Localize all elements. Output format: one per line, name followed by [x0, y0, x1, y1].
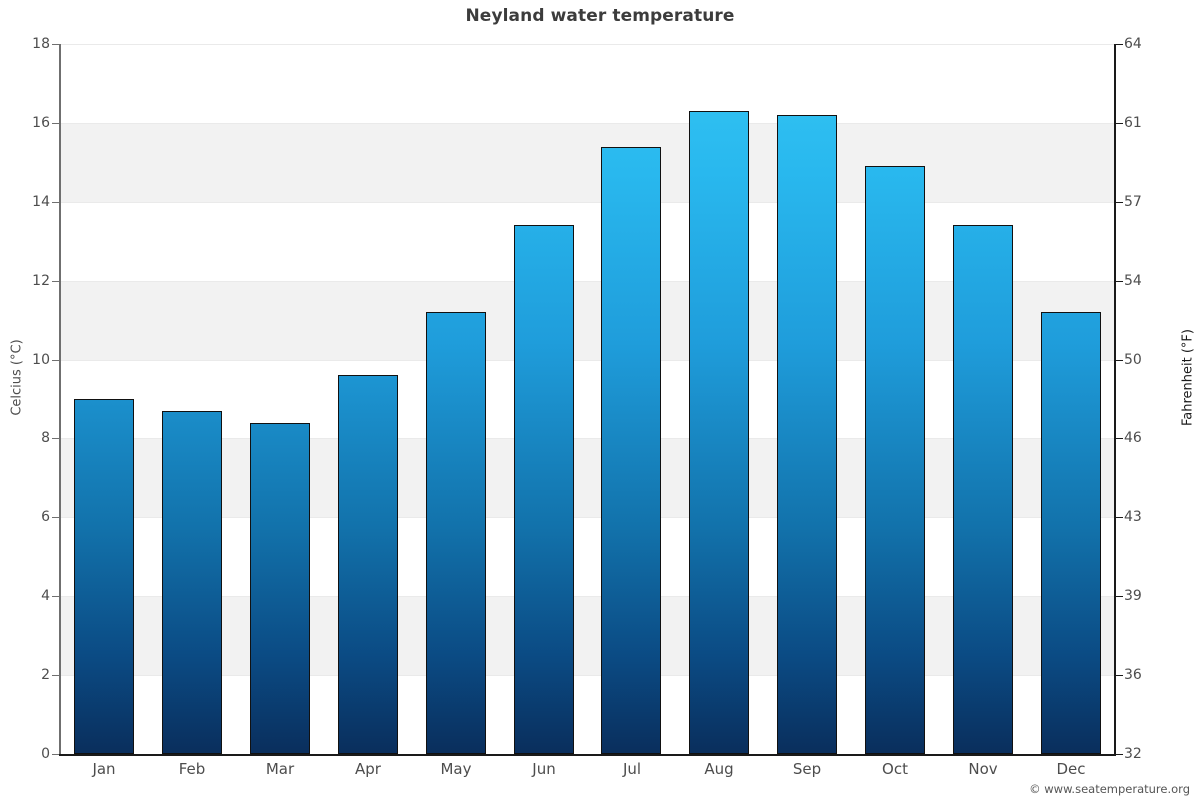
bar[interactable]: [426, 312, 486, 754]
bar[interactable]: [74, 399, 134, 754]
y-axis-left-tick-label: 0: [0, 746, 50, 762]
y-axis-left-tick-label: 6: [0, 509, 50, 525]
y-axis-right-tick-mark: [1116, 754, 1123, 755]
y-axis-right-tick-mark: [1116, 438, 1123, 439]
y-axis-right-tick-mark: [1116, 360, 1123, 361]
gridline: [60, 202, 1115, 203]
y-axis-right-tick-mark: [1116, 44, 1123, 45]
y-axis-left-tick-mark: [52, 517, 59, 518]
x-axis-tick-label: Jun: [500, 760, 588, 778]
y-axis-left-tick-mark: [52, 360, 59, 361]
y-axis-right-tick-label: 61: [1124, 115, 1164, 131]
y-axis-left-tick-mark: [52, 438, 59, 439]
y-axis-left-tick-label: 10: [0, 352, 50, 368]
x-axis-tick-label: Oct: [851, 760, 939, 778]
x-axis-tick-label: May: [412, 760, 500, 778]
x-axis-tick-label: Dec: [1027, 760, 1115, 778]
x-axis-tick-label: Jul: [588, 760, 676, 778]
y-axis-right-tick-label: 64: [1124, 36, 1164, 52]
y-axis-left-tick-label: 14: [0, 194, 50, 210]
y-axis-right-tick-label: 50: [1124, 352, 1164, 368]
y-axis-left-tick-mark: [52, 596, 59, 597]
y-axis-right-tick-label: 36: [1124, 667, 1164, 683]
y-axis-left-tick-mark: [52, 202, 59, 203]
y-axis-right-tick-label: 32: [1124, 746, 1164, 762]
y-axis-left-tick-mark: [52, 754, 59, 755]
water-temperature-chart: Neyland water temperature 02468101214161…: [0, 0, 1200, 800]
y-axis-left-tick-label: 16: [0, 115, 50, 131]
y-axis-right-tick-label: 46: [1124, 430, 1164, 446]
bar[interactable]: [514, 225, 574, 754]
y-axis-left-tick-label: 4: [0, 588, 50, 604]
y-axis-right-tick-label: 54: [1124, 273, 1164, 289]
x-axis-tick-label: Mar: [236, 760, 324, 778]
y-axis-right-title: Fahrenheit (°F): [1181, 288, 1196, 468]
chart-title: Neyland water temperature: [0, 6, 1200, 26]
y-axis-right-tick-mark: [1116, 517, 1123, 518]
x-axis-tick-label: Sep: [763, 760, 851, 778]
plot-area: [60, 44, 1115, 754]
x-axis-tick-label: Feb: [148, 760, 236, 778]
y-axis-left-tick-mark: [52, 675, 59, 676]
bar[interactable]: [250, 423, 310, 754]
y-axis-right-tick-mark: [1116, 281, 1123, 282]
y-axis-right-tick-label: 39: [1124, 588, 1164, 604]
bar[interactable]: [865, 166, 925, 754]
y-axis-left-tick-label: 2: [0, 667, 50, 683]
bar[interactable]: [777, 115, 837, 754]
y-axis-left-tick-mark: [52, 44, 59, 45]
bar[interactable]: [953, 225, 1013, 754]
background-band: [60, 123, 1115, 202]
y-axis-right-spine: [1114, 44, 1116, 755]
y-axis-left-tick-mark: [52, 281, 59, 282]
y-axis-right-tick-label: 57: [1124, 194, 1164, 210]
y-axis-right-tick-label: 43: [1124, 509, 1164, 525]
gridline: [60, 123, 1115, 124]
x-axis-tick-label: Jan: [60, 760, 148, 778]
y-axis-right-tick-mark: [1116, 675, 1123, 676]
x-axis-spine: [59, 754, 1116, 756]
y-axis-left-tick-label: 12: [0, 273, 50, 289]
y-axis-left-title: Celcius (°C): [10, 288, 25, 468]
bar[interactable]: [1041, 312, 1101, 754]
y-axis-left-spine: [59, 44, 61, 755]
bar[interactable]: [162, 411, 222, 754]
bar[interactable]: [689, 111, 749, 754]
bar[interactable]: [338, 375, 398, 754]
y-axis-left-tick-mark: [52, 123, 59, 124]
y-axis-left-tick-label: 18: [0, 36, 50, 52]
y-axis-right-tick-mark: [1116, 596, 1123, 597]
x-axis-tick-label: Nov: [939, 760, 1027, 778]
gridline: [60, 44, 1115, 45]
y-axis-right-tick-mark: [1116, 202, 1123, 203]
y-axis-right-tick-mark: [1116, 123, 1123, 124]
y-axis-left-tick-label: 8: [0, 430, 50, 446]
x-axis-tick-label: Aug: [675, 760, 763, 778]
x-axis-tick-label: Apr: [324, 760, 412, 778]
bar[interactable]: [601, 147, 661, 754]
footer-credit: © www.seatemperature.org: [1029, 782, 1190, 796]
